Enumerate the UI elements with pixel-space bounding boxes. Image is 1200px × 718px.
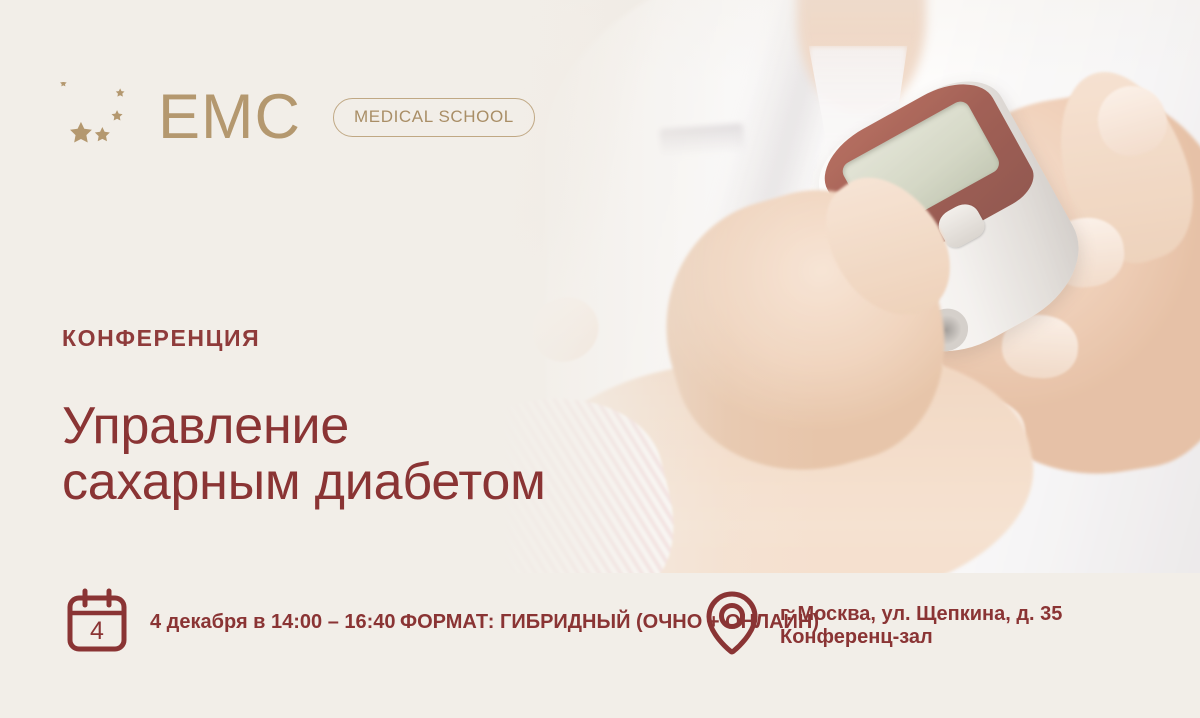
photo-canvas	[440, 0, 1200, 573]
eu-stars-arc-icon	[60, 82, 138, 152]
date-line: 4 декабря в 14:00 – 16:40	[150, 611, 396, 633]
title-line-2: сахарным диабетом	[62, 454, 546, 510]
eyebrow-label: КОНФЕРЕНЦИЯ	[62, 325, 546, 352]
conference-banner: EMC MEDICAL SCHOOL КОНФЕРЕНЦИЯ Управлени…	[0, 0, 1200, 718]
medical-school-badge: MEDICAL SCHOOL	[333, 98, 535, 137]
emc-wordmark: EMC	[158, 86, 301, 149]
venue-line: Конференц-зал	[780, 626, 933, 648]
headline-block: КОНФЕРЕНЦИЯ Управление сахарным диабетом	[62, 325, 546, 510]
event-place-block: г. Москва, ул. Щепкина, д. 35 Конференц-…	[706, 589, 1200, 662]
map-pin-icon	[706, 589, 758, 662]
emc-logo[interactable]: EMC MEDICAL SCHOOL	[60, 82, 535, 152]
calendar-icon: 4	[66, 587, 128, 658]
page-title: Управление сахарным диабетом	[62, 398, 546, 510]
place-text: г. Москва, ул. Щепкина, д. 35 Конференц-…	[780, 603, 1200, 649]
coat-pocket-left	[659, 123, 744, 157]
calendar-day-number: 4	[90, 617, 104, 645]
footer-info-bar: 4 4 декабря в 14:00 – 16:40 ФОРМАТ: ГИБР…	[0, 573, 1200, 718]
title-line-1: Управление	[62, 398, 546, 454]
hero-photo	[440, 0, 1200, 573]
address-line: г. Москва, ул. Щепкина, д. 35	[780, 603, 1062, 625]
